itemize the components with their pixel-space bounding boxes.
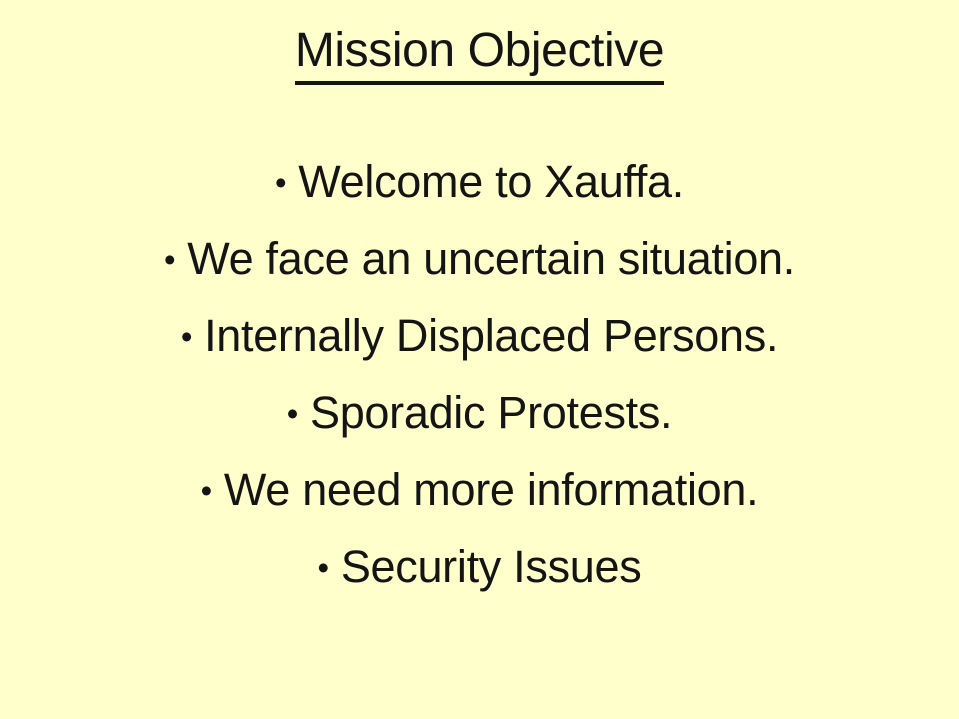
bullet-point-icon: •	[201, 474, 212, 507]
bullet-point-icon: •	[318, 551, 329, 584]
list-item-label: Sporadic Protests.	[310, 387, 672, 438]
slide-title-text: Mission Objective	[295, 22, 664, 85]
bullet-point-icon: •	[181, 320, 192, 353]
bullet-list: •Welcome to Xauffa. •We face an uncertai…	[0, 143, 959, 605]
list-item: •Internally Displaced Persons.	[0, 297, 959, 374]
list-item-label: We need more information.	[224, 464, 758, 515]
list-item-label: Security Issues	[341, 541, 642, 592]
slide-title: Mission Objective	[0, 22, 959, 85]
list-item: •We face an uncertain situation.	[0, 220, 959, 297]
list-item-label: Welcome to Xauffa.	[298, 156, 684, 207]
bullet-point-icon: •	[287, 397, 298, 430]
list-item: •Welcome to Xauffa.	[0, 143, 959, 220]
list-item-label: Internally Displaced Persons.	[204, 310, 778, 361]
bullet-point-icon: •	[275, 166, 286, 199]
list-item: •We need more information.	[0, 451, 959, 528]
list-item-label: We face an uncertain situation.	[187, 233, 795, 284]
list-item: •Sporadic Protests.	[0, 374, 959, 451]
list-item: •Security Issues	[0, 528, 959, 605]
presentation-slide: Mission Objective •Welcome to Xauffa. •W…	[0, 0, 959, 719]
bullet-point-icon: •	[164, 243, 175, 276]
